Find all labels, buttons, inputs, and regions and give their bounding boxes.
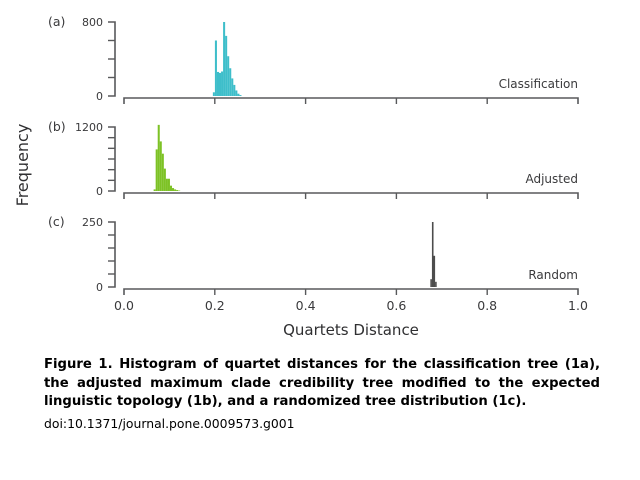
- histogram-bar: [154, 189, 156, 191]
- x-axis-line: [124, 289, 578, 295]
- histogram-bar: [172, 188, 174, 191]
- series-label-panel-c-random: Random: [528, 268, 578, 282]
- x-axis-tick-label: 0.8: [477, 298, 497, 313]
- histogram-bar: [231, 78, 233, 96]
- histogram-bar: [227, 56, 229, 96]
- panel-b: 12000(b)Adjusted: [48, 119, 578, 199]
- histogram-bar: [176, 190, 178, 191]
- x-axis-line: [124, 98, 578, 104]
- y-axis-max-label: 1200: [75, 121, 103, 134]
- histogram-bar: [217, 72, 219, 96]
- x-axis-tick-label: 0.0: [114, 298, 134, 313]
- histogram-bar: [174, 189, 176, 191]
- histogram-bar: [162, 154, 164, 191]
- histogram-bar: [237, 94, 239, 96]
- y-axis-min-label: 0: [96, 281, 103, 294]
- histogram-bar: [223, 22, 225, 96]
- histogram-bar: [168, 179, 170, 191]
- histogram-bar: [170, 186, 172, 191]
- panel-letter-b: (b): [48, 119, 66, 134]
- y-axis-max-label: 250: [82, 216, 103, 229]
- x-axis-title: Quartets Distance: [283, 321, 419, 339]
- y-axis-min-label: 0: [96, 90, 103, 103]
- figure-caption-block: Figure 1. Histogram of quartet distances…: [44, 356, 600, 432]
- y-axis-title: Frequency: [13, 124, 32, 207]
- panel-letter-c: (c): [48, 214, 65, 229]
- histogram-bar: [215, 41, 217, 97]
- panel-a: 8000(a)Classification: [48, 14, 578, 104]
- panel-c: 2500(c)Random: [48, 214, 578, 295]
- y-axis-max-label: 800: [82, 16, 103, 29]
- histogram-bar: [219, 73, 221, 96]
- histogram-bar: [225, 36, 227, 96]
- figure-panel-group: 8000(a)Classification12000(b)Adjusted250…: [0, 0, 640, 340]
- x-axis-line: [124, 193, 578, 199]
- panel-letter-a: (a): [48, 14, 65, 29]
- histogram-bar: [221, 71, 223, 96]
- y-axis-min-label: 0: [96, 185, 103, 198]
- histogram-bar: [164, 169, 166, 191]
- histogram-bar: [434, 256, 436, 287]
- histogram-bar: [160, 141, 162, 191]
- histogram-bar: [432, 222, 434, 287]
- histogram-bar: [166, 179, 168, 191]
- histogram-bar: [213, 92, 215, 96]
- x-axis-tick-label: 0.2: [205, 298, 225, 313]
- figure-doi-text: doi:10.1371/journal.pone.0009573.g001: [44, 415, 600, 432]
- y-axis-line: [108, 222, 115, 287]
- histogram-bar: [156, 149, 158, 191]
- histogram-bar: [239, 95, 241, 96]
- histogram-bar: [229, 68, 231, 96]
- histogram-bar: [430, 279, 432, 287]
- series-label-panel-b-adjusted: Adjusted: [525, 172, 578, 186]
- histogram-bar: [235, 90, 237, 96]
- x-axis-tick-label: 0.4: [296, 298, 316, 313]
- histogram-figure-svg: 8000(a)Classification12000(b)Adjusted250…: [0, 0, 640, 340]
- figure-caption-text: Figure 1. Histogram of quartet distances…: [44, 356, 600, 412]
- x-axis-tick-label: 0.6: [386, 298, 406, 313]
- x-axis-tick-label: 1.0: [568, 298, 588, 313]
- histogram-bar: [233, 85, 235, 96]
- histogram-bar: [435, 282, 437, 287]
- series-label-panel-a-classification: Classification: [499, 77, 578, 91]
- histogram-bar: [158, 125, 160, 191]
